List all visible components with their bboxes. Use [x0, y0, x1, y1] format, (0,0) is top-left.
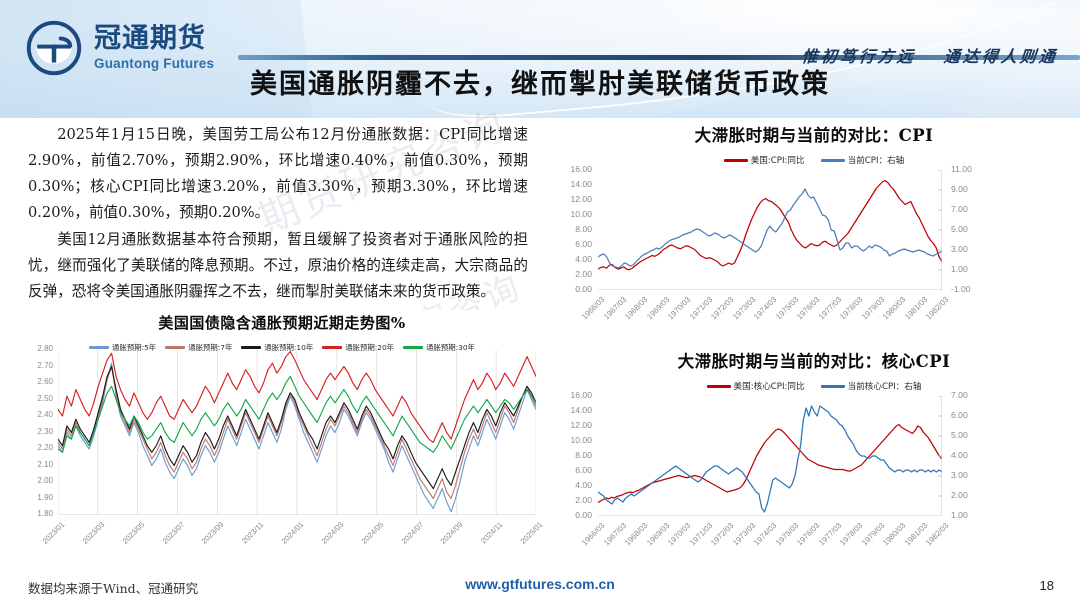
y-axis-tick: 16.00 [548, 164, 592, 174]
y2-axis-tick: 11.00 [951, 164, 972, 174]
legend-label: 当前核心CPI：右轴 [848, 380, 922, 392]
legend-label: 美国:CPI:同比 [751, 154, 805, 166]
legend-swatch-icon [821, 385, 845, 388]
y-axis-tick: 2.40 [9, 410, 53, 419]
chart-tips-title: 美国国债隐含通胀预期近期走势图% [22, 312, 542, 333]
series-line-0 [598, 181, 942, 270]
y-axis-tick: 2.10 [9, 460, 53, 469]
y-axis-tick: 8.00 [548, 224, 592, 234]
legend-swatch-icon [165, 346, 185, 349]
chart-core-plot: 16.0014.0012.0010.008.006.004.002.000.00… [598, 396, 942, 516]
chart-cpi-title: 大滞胀时期与当前的对比：CPI [556, 122, 1072, 146]
y2-axis-tick: 5.00 [951, 430, 968, 440]
chart-cpi-plot: 16.0014.0012.0010.008.006.004.002.000.00… [598, 170, 942, 290]
y2-axis-tick: 6.00 [951, 410, 968, 420]
y-axis-tick: 2.00 [548, 495, 592, 505]
legend-label: 美国:核心CPI:同比 [734, 380, 805, 392]
x-axis-tick: 2023/01 [30, 520, 66, 556]
x-axis-tick: 2024/09 [429, 520, 465, 556]
y2-axis-tick: 9.00 [951, 184, 968, 194]
x-axis-tick: 2023/11 [229, 520, 265, 556]
x-axis-tick: 2024/03 [309, 520, 345, 556]
y2-axis-tick: 7.00 [951, 390, 968, 400]
y-axis-tick: 1.90 [9, 493, 53, 502]
legend-swatch-icon [241, 346, 261, 349]
body-paragraph-1: 2025年1月15日晚，美国劳工局公布12月份通胀数据：CPI同比增速2.90%… [28, 122, 528, 226]
y2-axis-tick: 1.00 [951, 510, 968, 520]
legend-swatch-icon [707, 385, 731, 388]
x-axis-tick: 2024/01 [269, 520, 305, 556]
y-axis-tick: 8.00 [548, 450, 592, 460]
y-axis-tick: 16.00 [548, 390, 592, 400]
legend-item-1[interactable]: 当前核心CPI：右轴 [821, 380, 922, 392]
y-axis-tick: 12.00 [548, 420, 592, 430]
chart-core-title: 大滞胀时期与当前的对比：核心CPI [556, 348, 1072, 372]
chart-tips-plot: 2.802.702.602.502.402.302.202.102.001.90… [58, 350, 536, 515]
y2-axis-tick: 3.00 [951, 470, 968, 480]
slide-root: 冠通期货 Guantong Futures 惟初笃行方远 通达得人则通 美国通胀… [0, 0, 1080, 608]
legend-swatch-icon [89, 346, 109, 349]
y2-axis-tick: 4.00 [951, 450, 968, 460]
y-axis-tick: 14.00 [548, 179, 592, 189]
legend-swatch-icon [724, 159, 748, 162]
series-line-1 [598, 406, 942, 512]
x-axis-tick: 2023/05 [110, 520, 146, 556]
y2-axis-tick: 1.00 [951, 264, 968, 274]
legend-swatch-icon [322, 346, 342, 349]
page-title: 美国通胀阴霾不去，继而掣肘美联储货币政策 [0, 62, 1080, 101]
y-axis-tick: 2.60 [9, 377, 53, 386]
y-axis-tick: 12.00 [548, 194, 592, 204]
plot-svg [598, 396, 942, 516]
y-axis-tick: 1.80 [9, 509, 53, 518]
x-axis-tick: 2025/01 [508, 520, 544, 556]
x-axis-tick: 2023/07 [150, 520, 186, 556]
y-axis-tick: 6.00 [548, 239, 592, 249]
y-axis-tick: 4.00 [548, 254, 592, 264]
y-axis-tick: 4.00 [548, 480, 592, 490]
x-axis-tick: 2024/05 [349, 520, 385, 556]
x-axis-tick: 2024/11 [468, 520, 504, 556]
chart-core-cpi-comparison: 大滞胀时期与当前的对比：核心CPI 美国:核心CPI:同比当前核心CPI：右轴 … [556, 348, 1072, 563]
legend-item-0[interactable]: 美国:CPI:同比 [724, 154, 805, 166]
y2-axis-tick: 3.00 [951, 244, 968, 254]
footer-website-link[interactable]: www.gtfutures.com.cn [0, 576, 1080, 592]
legend-swatch-icon [403, 346, 423, 349]
y-axis-tick: 0.00 [548, 284, 592, 294]
chart-cpi-legend: 美国:CPI:同比当前CPI：右轴 [556, 154, 1072, 166]
y-axis-tick: 2.70 [9, 361, 53, 370]
y-axis-tick: 10.00 [548, 209, 592, 219]
body-copy: 2025年1月15日晚，美国劳工局公布12月份通胀数据：CPI同比增速2.90%… [28, 122, 528, 306]
plot-svg [598, 170, 942, 290]
y-axis-tick: 2.30 [9, 427, 53, 436]
y-axis-tick: 2.00 [548, 269, 592, 279]
y-axis-tick: 14.00 [548, 405, 592, 415]
footer-page-number: 18 [1040, 578, 1054, 593]
brand-name-cn: 冠通期货 [94, 25, 214, 53]
legend-label: 当前CPI：右轴 [848, 154, 905, 166]
y-axis-tick: 2.20 [9, 443, 53, 452]
x-axis-tick: 2023/09 [190, 520, 226, 556]
y-axis-tick: 2.80 [9, 344, 53, 353]
chart-core-legend: 美国:核心CPI:同比当前核心CPI：右轴 [556, 380, 1072, 392]
y-axis-tick: 0.00 [548, 510, 592, 520]
y2-axis-tick: 5.00 [951, 224, 968, 234]
y-axis-tick: 10.00 [548, 435, 592, 445]
y-axis-tick: 2.50 [9, 394, 53, 403]
legend-item-1[interactable]: 当前CPI：右轴 [821, 154, 905, 166]
y2-axis-tick: 2.00 [951, 490, 968, 500]
y2-axis-tick: 7.00 [951, 204, 968, 214]
legend-swatch-icon [821, 159, 845, 162]
body-paragraph-2: 美国12月通胀数据基本符合预期，暂且缓解了投资者对于通胀风险的担忧，继而强化了美… [28, 227, 528, 305]
legend-item-0[interactable]: 美国:核心CPI:同比 [707, 380, 805, 392]
y-axis-tick: 6.00 [548, 465, 592, 475]
chart-tips-breakeven: 美国国债隐含通胀预期近期走势图% 通胀预期:5年通胀预期:7年通胀预期:10年通… [22, 310, 542, 560]
x-axis-tick: 2024/07 [389, 520, 425, 556]
y2-axis-tick: -1.00 [951, 284, 971, 294]
y-axis-tick: 2.00 [9, 476, 53, 485]
chart-cpi-comparison: 大滞胀时期与当前的对比：CPI 美国:CPI:同比当前CPI：右轴 16.001… [556, 122, 1072, 337]
x-axis-tick: 2023/03 [70, 520, 106, 556]
plot-svg [58, 350, 536, 515]
